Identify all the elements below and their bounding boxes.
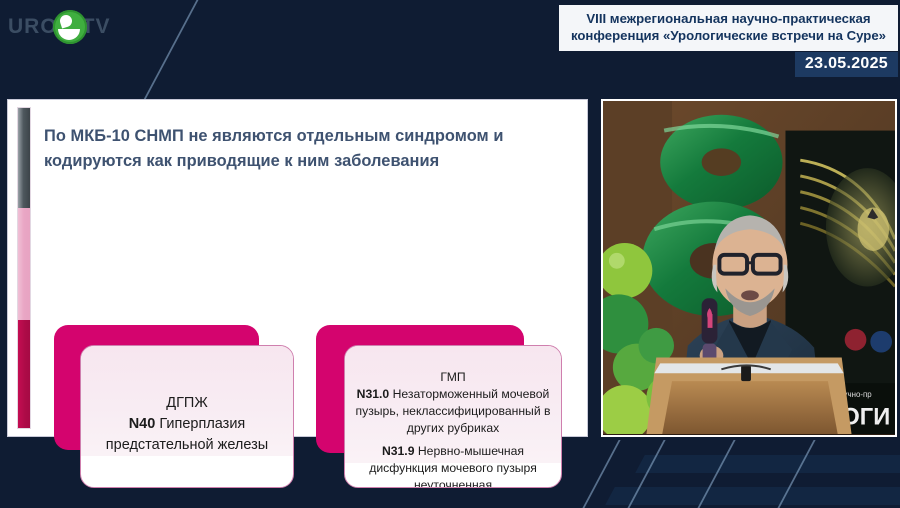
dgpzh-card: ДГПЖ N40 Гиперплазия предстательной желе… [54, 325, 294, 488]
conference-title-line-2: конференция «Урологические встречи на Су… [571, 27, 886, 44]
broadcast-date-badge: 23.05.2025 [795, 52, 898, 77]
conference-title-line-1: VIII межрегиональная научно-практическая [571, 10, 886, 27]
gmp-entry-n310-line-3: других рубриках [353, 420, 553, 437]
gmp-entry-n319-line-2: дисфункция мочевого пузыря [353, 460, 553, 477]
dgpzh-card-body: ДГПЖ N40 Гиперплазия предстательной желе… [80, 345, 294, 488]
gmp-entry-n319-text-1: Нервно-мышечная [418, 444, 524, 458]
dgpzh-card-heading: ДГПЖ [89, 393, 285, 414]
accent-strip [17, 107, 31, 429]
gmp-entry-n310-code: N31.0 [357, 387, 390, 401]
dark-segment [18, 108, 30, 208]
gmp-entry-n310-line-1: N31.0 Незаторможенный мочевой [353, 386, 553, 403]
gmp-card-body: ГМП N31.0 Незаторможенный мочевой пузырь… [344, 345, 562, 488]
speaker-video-frame: ная научно-пр ЛОГИ [603, 101, 895, 434]
logo-text-prefix: URO [8, 15, 58, 39]
dgpzh-card-code: N40 [129, 416, 156, 432]
dgpzh-card-line-1: N40 Гиперплазия [89, 414, 285, 435]
gmp-entry-n319-line-1: N31.9 Нервно-мышечная [353, 443, 553, 460]
dgpzh-card-description: Гиперплазия [159, 416, 245, 432]
slide-title-line-1: По МКБ-10 СНМП не являются отдельным син… [44, 124, 564, 149]
slide-title-line-2: кодируются как приводящие к ним заболева… [44, 149, 564, 174]
bg-band [605, 487, 900, 505]
conference-title-box: VIII межрегиональная научно-практическая… [559, 5, 898, 51]
gmp-card-text: ГМП N31.0 Незаторможенный мочевой пузырь… [345, 346, 561, 488]
pink-segment [18, 208, 30, 320]
magenta-segment [18, 320, 30, 428]
broadcast-header: URO TV VIII межрегиональная научно-практ… [0, 0, 900, 92]
slide-title: По МКБ-10 СНМП не являются отдельным син… [44, 124, 564, 174]
gmp-entry-n310-line-2: пузырь, неклассифицированный в [353, 403, 553, 420]
gmp-entry-n319-code: N31.9 [382, 444, 415, 458]
gmp-card-heading: ГМП [353, 368, 553, 386]
speaker-video-feed[interactable]: ная научно-пр ЛОГИ [601, 99, 897, 437]
gmp-entry-n310-text-1: Незаторможенный мочевой [393, 387, 550, 401]
presentation-slide: По МКБ-10 СНМП не являются отдельным син… [7, 99, 588, 437]
urotv-logo: URO TV [8, 10, 111, 44]
urotv-logo-icon [53, 10, 87, 44]
dgpzh-card-text: ДГПЖ N40 Гиперплазия предстательной желе… [81, 346, 293, 456]
dgpzh-card-line-2: предстательной железы [89, 435, 285, 456]
bg-band [635, 455, 900, 473]
gmp-entry-n319-line-3: неуточненная [353, 477, 553, 488]
gmp-card: ГМП N31.0 Незаторможенный мочевой пузырь… [316, 325, 562, 488]
